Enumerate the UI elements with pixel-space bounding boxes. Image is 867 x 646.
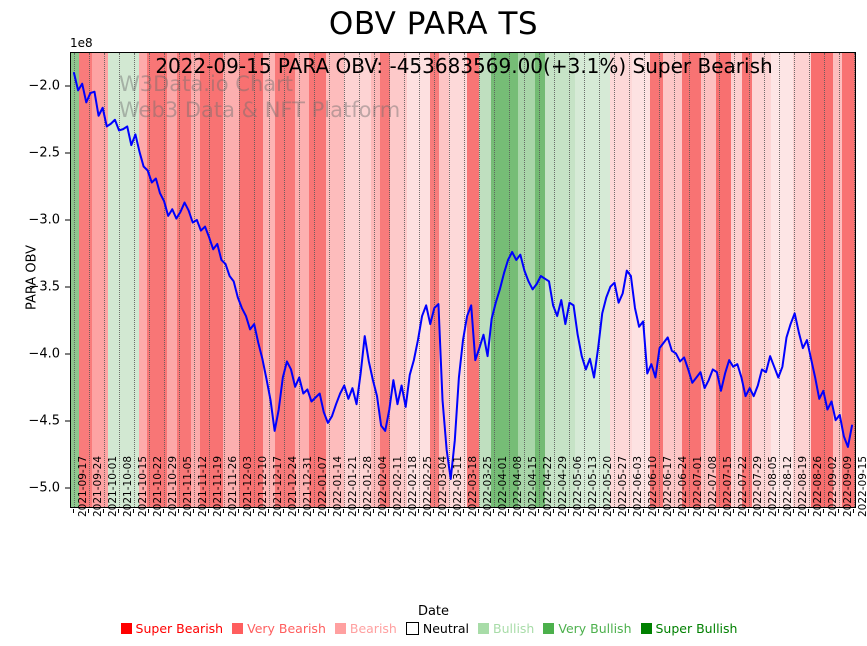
x-tick-mark: [583, 509, 584, 513]
x-tick-mark: [553, 509, 554, 513]
x-tick-label: 2021-10-01: [107, 456, 119, 517]
y-axis-offset-label: 1e8: [70, 36, 93, 50]
x-tick-label: 2022-09-15: [857, 456, 867, 517]
x-tick-label: 2022-02-04: [377, 456, 389, 517]
x-tick-mark: [448, 509, 449, 513]
x-tick-label: 2022-01-21: [347, 456, 359, 517]
x-tick-label: 2022-09-02: [827, 456, 839, 517]
x-tick-mark: [463, 509, 464, 513]
y-tick-label: −3.0: [28, 212, 60, 227]
legend-item[interactable]: Super Bearish: [121, 621, 224, 636]
x-tick-mark: [433, 509, 434, 513]
x-tick-mark: [673, 509, 674, 513]
x-tick-mark: [703, 509, 704, 513]
legend-label: Very Bullish: [558, 621, 631, 636]
x-tick-mark: [733, 509, 734, 513]
x-tick-label: 2022-05-06: [572, 456, 584, 517]
x-tick-mark: [568, 509, 569, 513]
x-tick-label: 2022-07-01: [692, 456, 704, 517]
x-tick-label: 2021-11-12: [197, 456, 209, 517]
x-tick-mark: [358, 509, 359, 513]
x-tick-label: 2022-08-05: [767, 456, 779, 517]
legend-swatch-icon: [232, 623, 243, 634]
x-tick-mark: [763, 509, 764, 513]
x-tick-mark: [373, 509, 374, 513]
x-tick-label: 2022-05-13: [587, 456, 599, 517]
x-tick-mark: [628, 509, 629, 513]
x-tick-label: 2021-12-10: [257, 456, 269, 517]
page-title: OBV PARA TS: [0, 6, 867, 42]
x-tick-label: 2021-11-05: [182, 456, 194, 517]
legend-swatch-icon: [543, 623, 554, 634]
legend-label: Super Bearish: [136, 621, 224, 636]
y-tick-label: −3.5: [28, 279, 60, 294]
x-tick-label: 2021-12-17: [272, 456, 284, 517]
x-tick-label: 2021-09-24: [92, 456, 104, 517]
x-tick-label: 2022-07-08: [707, 456, 719, 517]
x-tick-label: 2021-09-17: [77, 456, 89, 517]
x-tick-mark: [253, 509, 254, 513]
x-tick-label: 2022-09-09: [842, 456, 854, 517]
x-tick-mark: [613, 509, 614, 513]
x-tick-label: 2022-03-18: [467, 456, 479, 517]
x-tick-mark: [313, 509, 314, 513]
x-tick-label: 2022-05-27: [617, 456, 629, 517]
x-tick-mark: [688, 509, 689, 513]
y-tick-label: −2.5: [28, 145, 60, 160]
x-tick-label: 2021-10-22: [152, 456, 164, 517]
x-axis-ticks: 2021-09-172021-09-242021-10-012021-10-08…: [70, 509, 856, 604]
x-tick-mark: [163, 509, 164, 513]
x-tick-mark: [118, 509, 119, 513]
x-tick-label: 2022-06-03: [632, 456, 644, 517]
legend-swatch-icon: [121, 623, 132, 634]
plot-area[interactable]: W3Data.io Chart Web3 Data & NFT Platform…: [70, 52, 856, 508]
x-tick-label: 2022-03-25: [482, 456, 494, 517]
legend-label: Bullish: [493, 621, 534, 636]
x-tick-label: 2022-07-15: [722, 456, 734, 517]
x-tick-mark: [268, 509, 269, 513]
x-tick-label: 2022-07-22: [737, 456, 749, 517]
obv-line-series: [71, 53, 855, 507]
x-tick-mark: [418, 509, 419, 513]
x-tick-mark: [223, 509, 224, 513]
legend-item[interactable]: Bearish: [335, 621, 397, 636]
x-tick-label: 2021-11-19: [212, 456, 224, 517]
x-tick-label: 2022-08-26: [812, 456, 824, 517]
x-tick-label: 2022-02-25: [422, 456, 434, 517]
x-tick-mark: [148, 509, 149, 513]
x-tick-label: 2022-04-01: [497, 456, 509, 517]
x-tick-mark: [178, 509, 179, 513]
x-tick-label: 2022-06-17: [662, 456, 674, 517]
chart-subtitle: 2022-09-15 PARA OBV: -453683569.00(+3.1%…: [71, 54, 856, 78]
x-tick-mark: [208, 509, 209, 513]
x-tick-label: 2021-12-31: [302, 456, 314, 517]
x-tick-label: 2022-04-29: [557, 456, 569, 517]
x-tick-mark: [238, 509, 239, 513]
x-tick-label: 2022-04-15: [527, 456, 539, 517]
x-tick-mark: [718, 509, 719, 513]
x-tick-mark: [538, 509, 539, 513]
x-tick-label: 2022-05-20: [602, 456, 614, 517]
x-tick-mark: [403, 509, 404, 513]
legend-label: Very Bearish: [247, 621, 326, 636]
y-tick-label: −4.0: [28, 346, 60, 361]
x-tick-mark: [73, 509, 74, 513]
legend-item[interactable]: Super Bullish: [641, 621, 738, 636]
legend-item[interactable]: Very Bullish: [543, 621, 631, 636]
x-tick-mark: [388, 509, 389, 513]
x-axis-label: Date: [0, 604, 867, 619]
legend-swatch-icon: [641, 623, 652, 634]
x-tick-mark: [283, 509, 284, 513]
x-tick-label: 2021-12-03: [242, 456, 254, 517]
legend-label: Neutral: [423, 621, 469, 636]
x-tick-label: 2021-10-08: [122, 456, 134, 517]
x-tick-mark: [598, 509, 599, 513]
x-tick-label: 2022-06-24: [677, 456, 689, 517]
x-tick-label: 2022-04-08: [512, 456, 524, 517]
sentiment-legend: Super BearishVery BearishBearishNeutralB…: [0, 621, 867, 636]
x-tick-mark: [343, 509, 344, 513]
x-tick-mark: [748, 509, 749, 513]
legend-swatch-icon: [335, 623, 346, 634]
x-tick-mark: [823, 509, 824, 513]
x-tick-label: 2022-02-18: [407, 456, 419, 517]
x-tick-label: 2022-01-07: [317, 456, 329, 517]
x-tick-label: 2022-01-14: [332, 456, 344, 517]
x-tick-label: 2021-10-29: [167, 456, 179, 517]
x-tick-mark: [478, 509, 479, 513]
x-tick-mark: [838, 509, 839, 513]
x-tick-label: 2022-02-11: [392, 456, 404, 517]
x-tick-label: 2022-03-11: [452, 456, 464, 517]
y-tick-label: −4.5: [28, 413, 60, 428]
x-tick-label: 2022-08-19: [797, 456, 809, 517]
y-tick-label: −5.0: [28, 480, 60, 495]
x-tick-mark: [778, 509, 779, 513]
x-tick-mark: [853, 509, 854, 513]
x-tick-mark: [88, 509, 89, 513]
x-tick-label: 2022-06-10: [647, 456, 659, 517]
chart-figure: OBV PARA TS 1e8 PARA OBV Date −2.0−2.5−3…: [0, 0, 867, 646]
x-tick-label: 2022-04-22: [542, 456, 554, 517]
legend-item[interactable]: Bullish: [478, 621, 534, 636]
x-tick-mark: [298, 509, 299, 513]
x-tick-mark: [133, 509, 134, 513]
legend-label: Bearish: [350, 621, 397, 636]
x-tick-mark: [193, 509, 194, 513]
x-tick-mark: [103, 509, 104, 513]
x-tick-mark: [643, 509, 644, 513]
x-tick-label: 2021-10-15: [137, 456, 149, 517]
x-tick-mark: [493, 509, 494, 513]
x-tick-label: 2022-01-28: [362, 456, 374, 517]
y-tick-label: −2.0: [28, 78, 60, 93]
legend-swatch-icon: [406, 622, 419, 635]
x-tick-mark: [658, 509, 659, 513]
x-tick-mark: [808, 509, 809, 513]
legend-item[interactable]: Very Bearish: [232, 621, 326, 636]
y-axis-ticks: −2.0−2.5−3.0−3.5−4.0−4.5−5.0: [0, 52, 70, 508]
legend-swatch-icon: [478, 623, 489, 634]
x-tick-label: 2022-08-12: [782, 456, 794, 517]
x-tick-label: 2022-03-04: [437, 456, 449, 517]
x-tick-mark: [508, 509, 509, 513]
legend-item[interactable]: Neutral: [406, 621, 469, 636]
x-tick-label: 2021-12-24: [287, 456, 299, 517]
x-tick-label: 2021-11-26: [227, 456, 239, 517]
legend-label: Super Bullish: [656, 621, 738, 636]
x-tick-mark: [328, 509, 329, 513]
x-tick-label: 2022-07-29: [752, 456, 764, 517]
x-tick-mark: [523, 509, 524, 513]
x-tick-mark: [793, 509, 794, 513]
